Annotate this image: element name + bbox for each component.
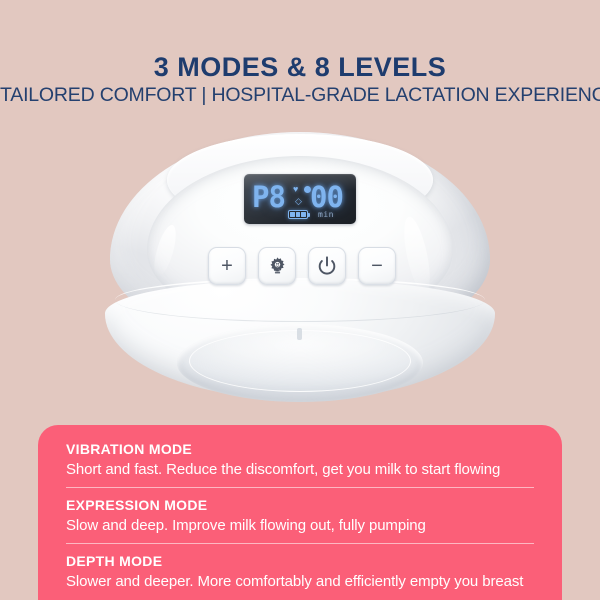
mode-title: VIBRATION MODE [66,441,534,457]
power-button[interactable] [308,247,346,285]
product-feature-banner: 3 MODES & 8 LEVELS TAILORED COMFORT | HO… [0,0,600,600]
page-title: 3 MODES & 8 LEVELS [0,52,600,83]
lcd-display-panel: P8 ♥ ◇ 00 min [244,174,356,224]
mode-divider [66,543,534,544]
heart-icon: ♥ [293,185,301,193]
plus-icon: + [221,256,233,276]
mode-description: Slower and deeper. More comfortably and … [66,573,534,590]
modes-description-card: VIBRATION MODE Short and fast. Reduce th… [38,425,562,600]
droplet-icon: ◇ [295,197,302,206]
lcd-mode-value: P8 [252,183,285,212]
product-image-breast-pump: P8 ♥ ◇ 00 min + [105,128,495,400]
product-seam-line [115,278,485,322]
gear-icon [267,256,288,277]
decrease-level-button[interactable]: − [358,247,396,285]
mode-divider [66,487,534,488]
product-flange-nub [297,328,302,340]
mode-title: EXPRESSION MODE [66,497,534,513]
mode-block-depth: DEPTH MODE Slower and deeper. More comfo… [66,553,534,590]
mode-block-expression: EXPRESSION MODE Slow and deep. Improve m… [66,497,534,534]
mode-button[interactable] [258,247,296,285]
mode-description: Short and fast. Reduce the discomfort, g… [66,461,534,478]
mode-title: DEPTH MODE [66,553,534,569]
lcd-timer-value: 00 [310,183,343,212]
increase-level-button[interactable]: + [208,247,246,285]
power-icon [316,255,338,277]
page-subtitle: TAILORED COMFORT | HOSPITAL-GRADE LACTAT… [0,84,600,107]
minus-icon: − [371,256,383,276]
battery-icon [288,210,308,219]
lcd-unit-label: min [318,211,334,219]
mode-description: Slow and deep. Improve milk flowing out,… [66,517,534,534]
mode-block-vibration: VIBRATION MODE Short and fast. Reduce th… [66,441,534,478]
